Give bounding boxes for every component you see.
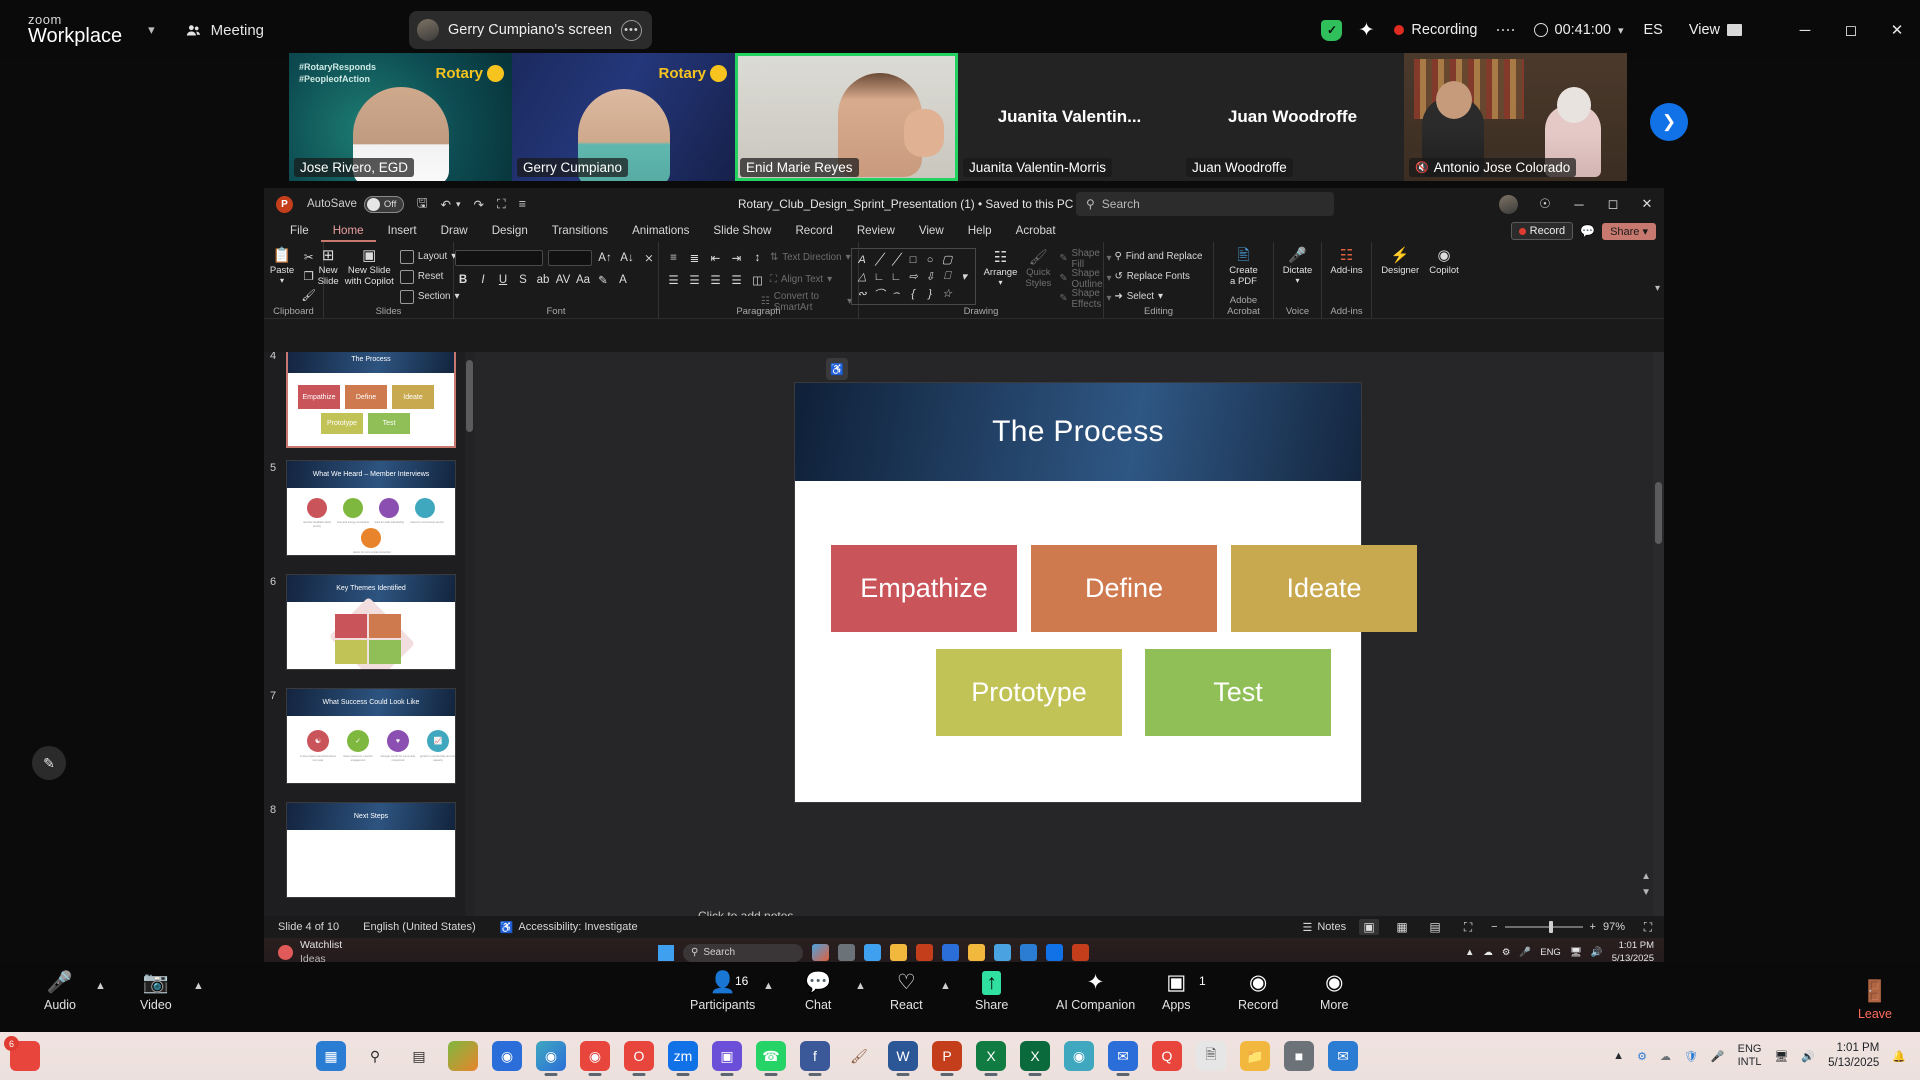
thumbnail-chip: Prototype [321,413,363,434]
view-button[interactable]: View [1689,22,1742,38]
ribbon-group-label: Voice [1274,306,1321,317]
strikethrough-icon[interactable]: S [515,271,532,288]
copilot-button[interactable]: ◉ Copilot [1429,246,1459,276]
thumbnail-chip: Ideate [392,385,434,409]
arrange-button[interactable]: ☷ Arrange ▾ [984,248,1018,287]
font-size-select[interactable] [548,250,592,266]
people-icon [185,22,202,39]
flowchart-shape-icon[interactable]: ⎕ [940,269,955,284]
video-caret-icon[interactable]: ▲ [193,980,204,992]
underline-icon[interactable]: U [495,271,512,288]
leave-label: Leave [1858,1007,1892,1021]
slide-title-placeholder[interactable]: The Process [795,383,1361,481]
ribbon-tabs: File Home Insert Draw Design Transitions… [264,220,1664,242]
shared-screen-label: Gerry Cumpiano's screen [448,22,612,38]
recording-indicator[interactable]: Recording [1394,22,1477,38]
addins-button[interactable]: ☷ Add-ins [1330,246,1362,276]
avatar [417,19,439,41]
powerpoint-window: P AutoSave Off 🖫 ↶ ▾ ↷ ⛶ ≡ Rotary_Club_D… [264,188,1664,967]
text-direction-button[interactable]: ⇅Text Direction▾ [770,249,851,266]
bullets-icon[interactable]: ≡ [665,249,682,266]
shape-outline-label: Shape Outline [1071,268,1102,290]
zoom-top-right-controls: ✓ ✦ Recording 00:41:00 ▾ ES View ─ ◻ ✕ [1321,0,1920,60]
elbow-arrow-icon[interactable]: ∟ [889,269,904,284]
search-input[interactable]: ⚲ Search [1076,192,1334,216]
shared-screen-pill[interactable]: Gerry Cumpiano's screen ••• [409,11,652,49]
taskbar-system-tray: ▲ ⚙ ☁ 🛡 🎤 ENG INTL 🖥 🔊 1:01 PM 5/13/2025… [1613,1041,1906,1071]
react-button[interactable]: ♡ React [890,971,923,1012]
word-icon[interactable] [1020,944,1037,961]
undo-icon[interactable]: ↶ [441,197,451,212]
participant-hand [904,109,944,157]
thumbnail-number: 4 [270,352,276,362]
text-highlight-color-icon[interactable]: ✎ [595,271,612,288]
record-circle-icon: ◉ [1249,971,1267,995]
chevron-down-icon[interactable]: ▾ [1618,24,1624,37]
search-placeholder: Search [703,947,735,958]
collapse-ribbon-icon[interactable]: ▾ [1655,283,1660,294]
paste-button[interactable]: 📋 Paste ▾ [270,246,294,285]
microphone-icon[interactable]: 🎤 [1711,1050,1725,1063]
minimize-button[interactable]: ─ [1782,0,1828,60]
addins-icon: ☷ [1340,246,1353,265]
quick-styles-icon: 🖌 [1029,248,1048,267]
onedrive-icon[interactable]: ☁ [1660,1050,1671,1063]
network-icon[interactable]: 🖥 [1774,1050,1788,1063]
react-caret-icon[interactable]: ▲ [940,980,951,992]
scrollbar-thumb[interactable] [466,360,473,432]
new-slide-icon: ⊞ [322,246,335,265]
shapes-expand-icon[interactable]: ▾ [957,269,972,284]
create-pdf-button[interactable]: 🖹 Create a PDF [1229,246,1258,287]
camera-icon: 📷 [143,971,169,995]
more-options-icon[interactable]: ••• [621,20,642,41]
reading-view-icon[interactable]: ▤ [1425,919,1445,935]
participant-tile[interactable]: Rotary Gerry Cumpiano [512,53,735,181]
dictate-button[interactable]: 🎤 Dictate ▾ [1283,246,1313,285]
font-color-icon[interactable]: A [615,271,632,288]
sharepoint-icon[interactable]: ◉ [1064,1041,1094,1071]
star-shape-icon[interactable]: ☆ [940,286,955,301]
chat-bubble-icon: 💬 [805,971,831,995]
participant-name: Juan Woodroffe [1186,158,1293,177]
excel-2-icon[interactable]: X [1020,1041,1050,1071]
record-button[interactable]: Record [1511,222,1573,240]
rectangle-shape-icon[interactable]: □ [906,252,921,267]
edit-area: 4 The Process Empathize Define Ideate Pr… [264,352,1664,938]
paint-icon[interactable]: 🖌 [844,1041,874,1071]
normal-view-icon[interactable]: ▣ [1359,919,1379,935]
zoom-taskbar-icon[interactable]: zm [668,1041,698,1071]
zoom-handle[interactable] [1549,921,1553,933]
shared-taskbar-apps: ⚲ Search [658,944,1089,962]
select-button[interactable]: ➜Select▾ [1115,288,1163,304]
notes-button[interactable]: ☰ Notes [1302,921,1346,934]
zoom-slider[interactable]: − + 97% [1491,921,1625,933]
pdf-icon: 🖹 [1237,246,1249,265]
outlook-icon[interactable] [942,944,959,961]
bluetooth-icon[interactable]: ⚙ [1502,947,1511,958]
task-view-icon[interactable]: ▤ [404,1041,434,1071]
ellipsis-icon: ◉ [1325,971,1343,995]
search-placeholder: Search [1102,197,1140,211]
tray-language[interactable]: ENG [1540,947,1561,958]
scrollbar-thumb[interactable] [1655,482,1662,544]
left-brace-icon[interactable]: { [906,286,921,301]
copy-icon[interactable]: ❐ [300,267,317,284]
slide-thumbnail-7[interactable]: What Success Could Look Like ☯ ✓ ♥ 📈 3 n… [286,688,456,784]
shield-check-icon[interactable]: ✓ [1321,20,1342,41]
record-dot-icon [1519,228,1526,235]
replace-fonts-label: Replace Fonts [1127,271,1190,282]
share-button[interactable]: Share ▾ [1602,223,1656,240]
zoom-track[interactable] [1505,926,1583,928]
find-replace-button[interactable]: ⚲Find and Replace [1115,249,1203,265]
shapes-more-icon[interactable] [957,252,972,267]
new-slide-copilot-label: New Slide with Copilot [345,265,394,287]
slide-thumbnail-panel[interactable]: 4 The Process Empathize Define Ideate Pr… [264,352,474,938]
microphone-icon: 🎤 [1288,246,1307,265]
participant-tile[interactable]: #RotaryResponds#PeopleofAction Rotary Jo… [289,53,512,181]
chrome-icon[interactable] [968,944,985,961]
scribble-icon[interactable]: ∾ [855,286,870,301]
ribbon-group-label: Font [454,306,658,317]
accessibility-checker-icon[interactable]: ♿ [826,358,848,380]
close-button[interactable]: ✕ [1874,0,1920,60]
close-button[interactable]: ✕ [1630,188,1664,220]
participants-caret-icon[interactable]: ▲ [763,980,774,992]
chat-label: Chat [805,998,831,1012]
comments-icon[interactable]: 💬 [1580,224,1595,238]
excel-icon[interactable]: X [976,1041,1006,1071]
align-text-label: Align Text [781,274,823,285]
font-family-select[interactable] [455,250,543,266]
designer-button[interactable]: ⚡ Designer [1381,246,1419,276]
opera-icon[interactable]: O [624,1041,654,1071]
volume-icon[interactable]: 🔊 [1801,1050,1815,1063]
layout-button[interactable]: Layout▾ [400,248,460,265]
slide-counter[interactable]: Slide 4 of 10 [278,921,339,933]
slide-nav-arrows[interactable]: ▲ ▼ [1641,871,1651,898]
thumbnail-title: Key Themes Identified [287,575,455,602]
clear-formatting-icon[interactable]: ⨯ [641,249,658,266]
increase-font-size-icon[interactable]: A↑ [597,249,614,266]
tray-expand-icon[interactable]: ▲ [1613,1050,1624,1062]
file-explorer-icon[interactable]: 📁 [1240,1041,1270,1071]
reset-button[interactable]: Reset [400,268,460,285]
document-title[interactable]: Rotary_Club_Design_Sprint_Presentation (… [738,197,1073,211]
arrange-label: Arrange [984,267,1018,278]
tab-view[interactable]: View [907,220,956,242]
office-icon[interactable] [916,944,933,961]
help-icon[interactable]: ☉ [1528,188,1562,220]
italic-icon[interactable]: I [475,271,492,288]
format-painter-icon[interactable]: 🖌 [300,286,317,303]
slide-thumbnail-4[interactable]: The Process Empathize Define Ideate Prot… [286,352,456,448]
taskbar-clock[interactable]: 1:01 PM 5/13/2025 [1828,1041,1879,1071]
slide-canvas[interactable]: ♿ The Process Empathize Define Ideate Pr… [475,352,1653,938]
new-slide-button[interactable]: ⊞ New Slide [318,246,339,287]
accessibility-status[interactable]: ♿ Accessibility: Investigate [500,921,638,934]
tab-draw[interactable]: Draw [429,220,480,242]
next-slide-icon[interactable]: ▼ [1641,887,1651,898]
shape-fill-label: Shape Fill [1071,248,1102,270]
quick-styles-button[interactable]: 🖌 Quick Styles [1025,248,1051,289]
file-explorer-icon[interactable] [890,944,907,961]
leave-button[interactable]: 🚪 Leave [1858,980,1892,1021]
share-button[interactable]: ↑ Share [975,971,1008,1012]
textbox-shape-icon[interactable]: A [855,252,870,267]
arc-icon[interactable]: ⌒ [872,286,887,301]
thumbnail-title: Next Steps [287,803,455,830]
start-icon[interactable]: ▦ [316,1041,346,1071]
participant-tile[interactable]: Juanita Valentin... Juanita Valentin-Mor… [958,53,1181,181]
line-shape-icon[interactable]: ╱ [872,252,887,267]
thumbnail-chip: Test [368,413,410,434]
audio-caret-icon[interactable]: ▲ [95,980,106,992]
chat-button[interactable]: 💬 Chat [805,971,831,1012]
text-shadow-icon[interactable]: ab [535,271,552,288]
copilot-icon: ◉ [1437,246,1450,265]
canvas-scrollbar[interactable] [1653,352,1664,938]
slide-thumbnail-6[interactable]: Key Themes Identified [286,574,456,670]
start-presentation-icon[interactable]: ⛶ [497,197,506,212]
tray-expand-icon[interactable]: ▲ [1465,947,1474,958]
save-icon[interactable]: 🖫 [417,194,428,215]
columns-icon[interactable]: ◫ [749,271,766,288]
bold-icon[interactable]: B [455,271,472,288]
slide-title: The Process [992,415,1164,449]
start-icon[interactable] [658,945,674,961]
teams-icon[interactable]: ▣ [712,1041,742,1071]
tab-review[interactable]: Review [845,220,907,242]
view-grid-icon[interactable] [1497,29,1514,31]
view-button-label: View [1689,22,1720,38]
block-arrow-icon[interactable]: ⇨ [906,269,921,284]
next-participants-button[interactable]: ❯ [1650,103,1688,141]
thumbnail-chip: Empathize [298,385,340,409]
audio-button[interactable]: 🎤 Audio [44,971,76,1012]
align-right-icon[interactable]: ☰ [707,271,724,288]
recording-label: Recording [1411,22,1477,38]
participant-name: Jose Rivero, EGD [294,158,414,177]
curve-icon[interactable]: ⌢ [889,286,904,301]
chevron-down-icon[interactable]: ▾ [280,276,284,285]
ai-sparkle-icon: ✦ [1087,971,1105,995]
annotate-pencil-button[interactable]: ✎ [32,746,66,780]
ribbon-group-drawing: A╱╱□○▢ △∟∟⇨⇩⎕▾ ∾⌒⌢{}☆ ☷ Arrange ▾ 🖌 Quic… [859,242,1104,319]
minimize-button[interactable]: ─ [1562,188,1596,220]
search-icon: ⚲ [691,947,698,958]
share-label: Share [975,998,1008,1012]
text-direction-label: Text Direction [782,252,841,263]
align-left-icon[interactable]: ☰ [665,271,682,288]
slide-box-test[interactable]: Test [1145,649,1331,736]
change-case-icon[interactable]: Aa [575,271,592,288]
security-shield-icon[interactable]: 🛡 [1684,1050,1698,1063]
record-button[interactable]: ◉ Record [1238,971,1278,1012]
arrange-icon: ☷ [994,248,1007,267]
teams-icon[interactable] [994,944,1011,961]
tab-acrobat[interactable]: Acrobat [1004,220,1068,242]
slide-sorter-view-icon[interactable]: ▦ [1392,919,1412,935]
tab-transitions[interactable]: Transitions [540,220,620,242]
shapes-gallery[interactable]: A╱╱□○▢ △∟∟⇨⇩⎕▾ ∾⌒⌢{}☆ [851,248,976,305]
thumbnail-title: The Process [288,352,454,373]
slide-show-view-icon[interactable]: ⛶ [1458,919,1478,935]
record-button-label: Record [1530,225,1565,237]
powerpoint-icon[interactable]: P [932,1041,962,1071]
increase-indent-icon[interactable]: ⇥ [728,249,745,266]
slide-box-define[interactable]: Define [1031,545,1217,632]
tab-animations[interactable]: Animations [620,220,701,242]
line-spacing-icon[interactable]: ↕ [749,249,766,266]
numbering-icon[interactable]: ≣ [686,249,703,266]
thumbnail-title: What Success Could Look Like [287,689,455,716]
slide-box-ideate[interactable]: Ideate [1231,545,1417,632]
slide-box-empathize[interactable]: Empathize [831,545,1017,632]
current-slide[interactable]: The Process Empathize Define Ideate Prot… [795,383,1361,802]
record-label: Record [1238,998,1278,1012]
tab-record[interactable]: Record [783,220,844,242]
ai-companion-label: AI Companion [1056,998,1135,1012]
share-screen-icon: ↑ [982,971,1001,995]
elbow-connector-icon[interactable]: ∟ [872,269,887,284]
align-text-button[interactable]: ⛶Align Text▾ [770,271,832,288]
ribbon-group-paragraph: ≡ ≣ ⇤ ⇥ ↕ ⇅Text Direction▾ ☰ ☰ ☰ ☰ ◫ ⛶Al… [659,242,859,319]
oval-shape-icon[interactable]: ○ [923,252,938,267]
tab-slide-show[interactable]: Slide Show [701,220,783,242]
participant-tile[interactable]: 🔇 Antonio Jose Colorado [1404,53,1627,181]
more-button[interactable]: ◉ More [1320,971,1348,1012]
notepad-icon[interactable]: 🗎 [1196,1041,1226,1071]
zoom-logo: zoom Workplace [28,13,122,48]
powerpoint-icon[interactable] [1072,944,1089,961]
zoom-in-icon[interactable]: + [1590,921,1596,933]
chrome-icon[interactable]: ◉ [580,1041,610,1071]
notification-badge-icon[interactable]: 6 [10,1041,40,1071]
outlook-icon[interactable]: ✉ [1108,1041,1138,1071]
participant-tile-active-speaker[interactable]: Enid Marie Reyes [735,53,958,181]
meeting-tab[interactable]: Meeting [185,22,264,39]
bluetooth-icon[interactable]: ⚙ [1637,1050,1647,1063]
triangle-shape-icon[interactable]: △ [855,269,870,284]
copilot-slide-icon: ▣ [362,246,376,265]
participant-tile[interactable]: Juan Woodroffe Juan Woodroffe [1181,53,1404,181]
microphone-icon[interactable]: 🎤 [1519,947,1531,958]
justify-icon[interactable]: ☰ [728,271,745,288]
customize-quick-access-icon[interactable]: ≡ [519,197,526,211]
mail-icon[interactable]: ✉ [1328,1041,1358,1071]
slide-thumbnail-5[interactable]: What We Heard – Member Interviews member… [286,460,456,556]
cut-icon[interactable]: ✂ [300,248,317,265]
apps-button[interactable]: ▣ Apps [1162,971,1191,1012]
maximize-button[interactable]: ◻ [1596,188,1630,220]
chevron-down-icon[interactable]: ▾ [148,22,155,38]
search-icon[interactable]: ⚲ [360,1041,390,1071]
store-icon[interactable]: ■ [1284,1041,1314,1071]
meeting-timer-value: 00:41:00 [1555,22,1611,38]
whatsapp-icon[interactable]: ☎ [756,1041,786,1071]
tab-design[interactable]: Design [480,220,540,242]
notification-bell-icon[interactable]: 🔔 [1892,1050,1906,1063]
down-arrow-icon[interactable]: ⇩ [923,269,938,284]
right-brace-icon[interactable]: } [923,286,938,301]
line-arrow-shape-icon[interactable]: ╱ [889,252,904,267]
status-language[interactable]: English (United States) [363,921,476,933]
paste-label: Paste [270,265,294,276]
ribbon-group-label: Clipboard [264,306,323,317]
previous-slide-icon[interactable]: ▲ [1641,871,1651,882]
ai-sparkle-icon[interactable]: ✦ [1358,19,1374,42]
clock-icon [1534,23,1548,37]
slide-box-prototype[interactable]: Prototype [936,649,1122,736]
screen: zoom Workplace ▾ Meeting Gerry Cumpiano'… [0,0,1920,1080]
edge-icon[interactable]: ◉ [536,1041,566,1071]
redo-icon[interactable]: ↷ [474,197,484,212]
word-icon[interactable]: W [888,1041,918,1071]
onedrive-icon[interactable]: ☁ [1483,947,1493,958]
edge-icon[interactable] [864,944,881,961]
chat-caret-icon[interactable]: ▲ [855,980,866,992]
chevron-down-icon[interactable]: ▾ [456,199,461,210]
ai-companion-button[interactable]: ✦ AI Companion [1056,971,1135,1012]
tab-file[interactable]: File [278,220,321,242]
rounded-rect-shape-icon[interactable]: ▢ [940,252,955,267]
meeting-timer[interactable]: 00:41:00 ▾ [1534,22,1624,38]
thumbnail-scrollbar[interactable]: ▾ [465,352,474,938]
volume-icon[interactable]: 🔊 [1591,947,1603,958]
thumbnail-number: 7 [270,690,276,702]
video-button[interactable]: 📷 Video [140,971,172,1012]
zoom-level: 97% [1603,921,1625,933]
select-label: Select [1127,291,1154,302]
tab-home[interactable]: Home [321,220,376,242]
align-center-icon[interactable]: ☰ [686,271,703,288]
replace-fonts-button[interactable]: ↺Replace Fonts [1115,269,1190,285]
section-button[interactable]: Section▾ [400,288,460,305]
slide-thumbnail-8[interactable]: Next Steps [286,802,456,898]
autosave-toggle[interactable]: Off [364,196,404,213]
user-avatar[interactable] [1499,195,1518,214]
participant-name: Enid Marie Reyes [740,158,859,177]
autosave-state: Off [384,199,397,210]
copilot-icon[interactable]: ◉ [492,1041,522,1071]
tab-help[interactable]: Help [956,220,1004,242]
widgets-icon[interactable] [448,1041,478,1071]
decrease-indent-icon[interactable]: ⇤ [707,249,724,266]
recording-dot-icon [1394,25,1404,35]
decrease-font-size-icon[interactable]: A↓ [619,249,636,266]
task-view-icon[interactable] [838,944,855,961]
network-icon[interactable]: 🖥 [1570,947,1582,958]
ribbon-group-acrobat: 🖹 Create a PDF Adobe Acrobat [1214,242,1274,319]
thumbnail-chip: Define [345,385,387,409]
maximize-button[interactable]: ◻ [1828,0,1874,60]
character-spacing-icon[interactable]: AV [555,271,572,288]
new-slide-copilot-button[interactable]: ▣ New Slide with Copilot [345,246,394,287]
widgets-icon[interactable] [812,944,829,961]
fit-slide-to-window-icon[interactable]: ⛶ [1638,919,1658,935]
acrobat-icon[interactable]: Q [1152,1041,1182,1071]
facebook-icon[interactable]: f [800,1041,830,1071]
taskbar-search-input[interactable]: ⚲ Search [683,944,803,962]
video-label: Video [140,998,172,1012]
zoom-out-icon[interactable]: − [1491,921,1497,933]
tab-insert[interactable]: Insert [376,220,429,242]
language-indicator[interactable]: ES [1643,22,1662,38]
zoom-icon[interactable] [1046,944,1063,961]
